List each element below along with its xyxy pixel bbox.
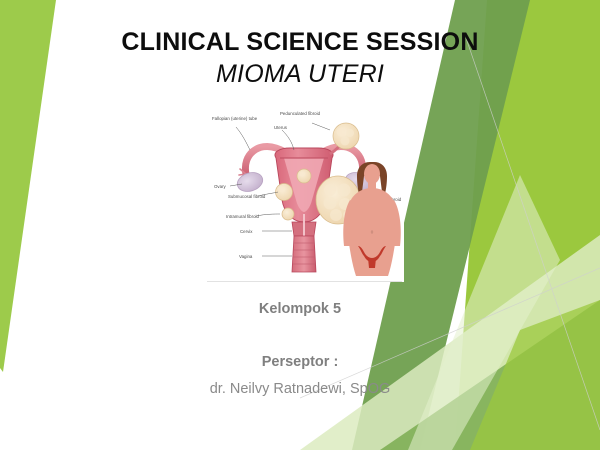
group-label: Kelompok 5: [0, 301, 600, 317]
label-fallopian-tube: Fallopian (uterine) tube: [212, 116, 258, 121]
label-intramural: Intramural fibroid: [226, 214, 260, 219]
label-ovary: Ovary: [214, 184, 227, 189]
preceptor-block: Perseptor : dr. Neilvy Ratnadewi, SpOG: [0, 355, 600, 398]
fibroid-submucosal: [297, 169, 311, 183]
figure-head: [364, 164, 380, 184]
preceptor-label: Perseptor :: [0, 355, 600, 371]
fibroid-pedunculated: [333, 123, 359, 149]
presentation-slide: CLINICAL SCIENCE SESSION MIOMA UTERI: [0, 0, 600, 450]
preceptor-name: dr. Neilvy Ratnadewi, SpOG: [0, 382, 600, 398]
label-uterus: Uterus: [274, 125, 288, 130]
title-line-secondary: MIOMA UTERI: [0, 59, 600, 89]
fibroid-lower-left: [282, 208, 294, 220]
figure-navel: [371, 230, 373, 234]
vagina: [292, 236, 316, 272]
uterus-fibroid-diagram: Fallopian (uterine) tube Pedunculated fi…: [204, 104, 404, 282]
label-cervix: Cervix: [240, 229, 253, 234]
fibroid-intramural: [276, 184, 293, 201]
label-pedunculated: Pedunculated fibroid: [280, 111, 321, 116]
label-submucosal: Submucosal fibroid: [228, 194, 266, 199]
title-line-primary: CLINICAL SCIENCE SESSION: [0, 28, 600, 57]
ovary-left: [235, 169, 265, 194]
slide-title: CLINICAL SCIENCE SESSION MIOMA UTERI: [0, 28, 600, 89]
content-divider: [207, 281, 402, 282]
label-vagina: Vagina: [239, 254, 253, 259]
